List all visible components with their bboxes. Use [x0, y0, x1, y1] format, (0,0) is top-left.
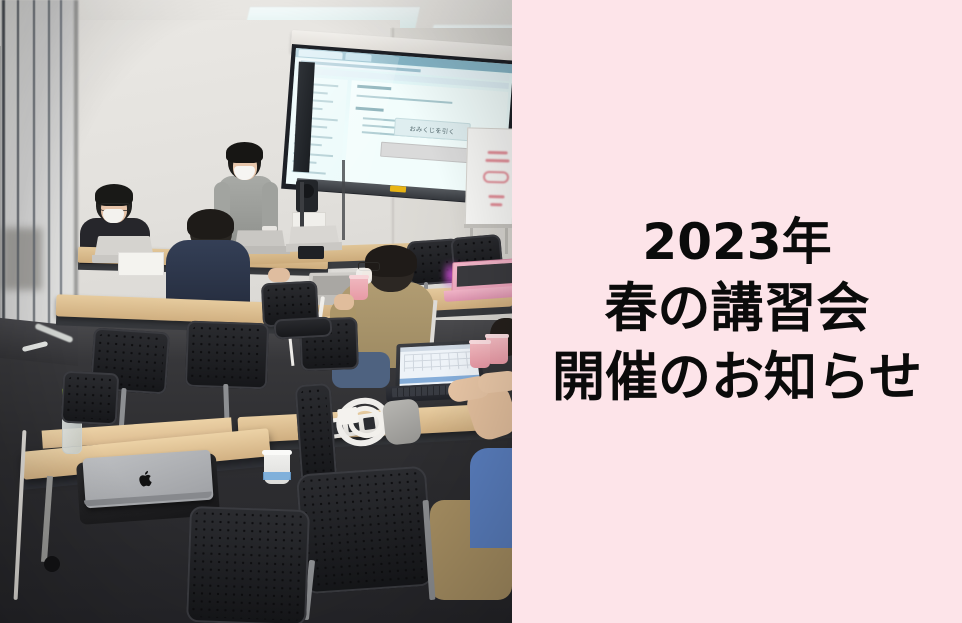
device-box	[298, 246, 324, 259]
accessory-pouch	[382, 398, 422, 446]
headline-line-2: 春の講習会	[552, 275, 922, 344]
chair-back-front	[186, 506, 310, 623]
seminar-room-photo: おみくじを引く	[0, 0, 512, 623]
paper-cup-lip	[262, 450, 292, 455]
power-plug	[337, 407, 359, 426]
chair-back	[185, 321, 269, 390]
page-table-grid	[404, 351, 474, 371]
announcement-text-panel: 2023年 春の講習会 開催のお知らせ	[512, 0, 962, 623]
chair-back	[274, 316, 333, 339]
paper-cup-lip	[349, 275, 369, 279]
paper-cup-lip	[485, 334, 509, 338]
desk-caster-wheel	[44, 556, 60, 572]
typing-person-hand	[477, 370, 512, 394]
paper-cup-lip	[469, 340, 491, 344]
presenter-hair	[226, 142, 263, 163]
person-khaki-hand	[334, 294, 354, 310]
cable-pole	[342, 160, 345, 240]
partition-mullion	[2, 0, 5, 352]
headline: 2023年 春の講習会 開催のお知らせ	[552, 210, 922, 413]
partition-shadow	[2, 228, 42, 290]
event-announcement-banner: おみくじを引く	[0, 0, 962, 623]
paper-tray	[118, 252, 164, 276]
apple-logo-icon	[137, 469, 154, 488]
partition-mullion	[48, 0, 50, 352]
omikuji-button-label: おみくじを引く	[409, 123, 455, 135]
typing-person-body	[470, 448, 512, 548]
chair-back-front	[296, 466, 434, 595]
person-khaki-hair	[365, 245, 417, 277]
headline-line-3: 開催のお知らせ	[552, 344, 922, 413]
person-navy-hair	[187, 209, 234, 239]
whiteboard-leg	[505, 228, 508, 254]
partition-mullion	[17, 0, 19, 352]
screen-clip	[390, 185, 406, 192]
chair-back	[295, 383, 338, 485]
person-navy-body	[166, 240, 250, 302]
person-navy-hand	[268, 268, 290, 282]
paper-cup-band	[263, 472, 291, 480]
partition-mullion	[33, 0, 35, 352]
whiteboard	[465, 127, 512, 227]
chair-back	[61, 371, 120, 426]
paper-cup	[470, 342, 490, 368]
mic-stand	[300, 182, 304, 230]
headline-line-1: 2023年	[552, 210, 922, 275]
